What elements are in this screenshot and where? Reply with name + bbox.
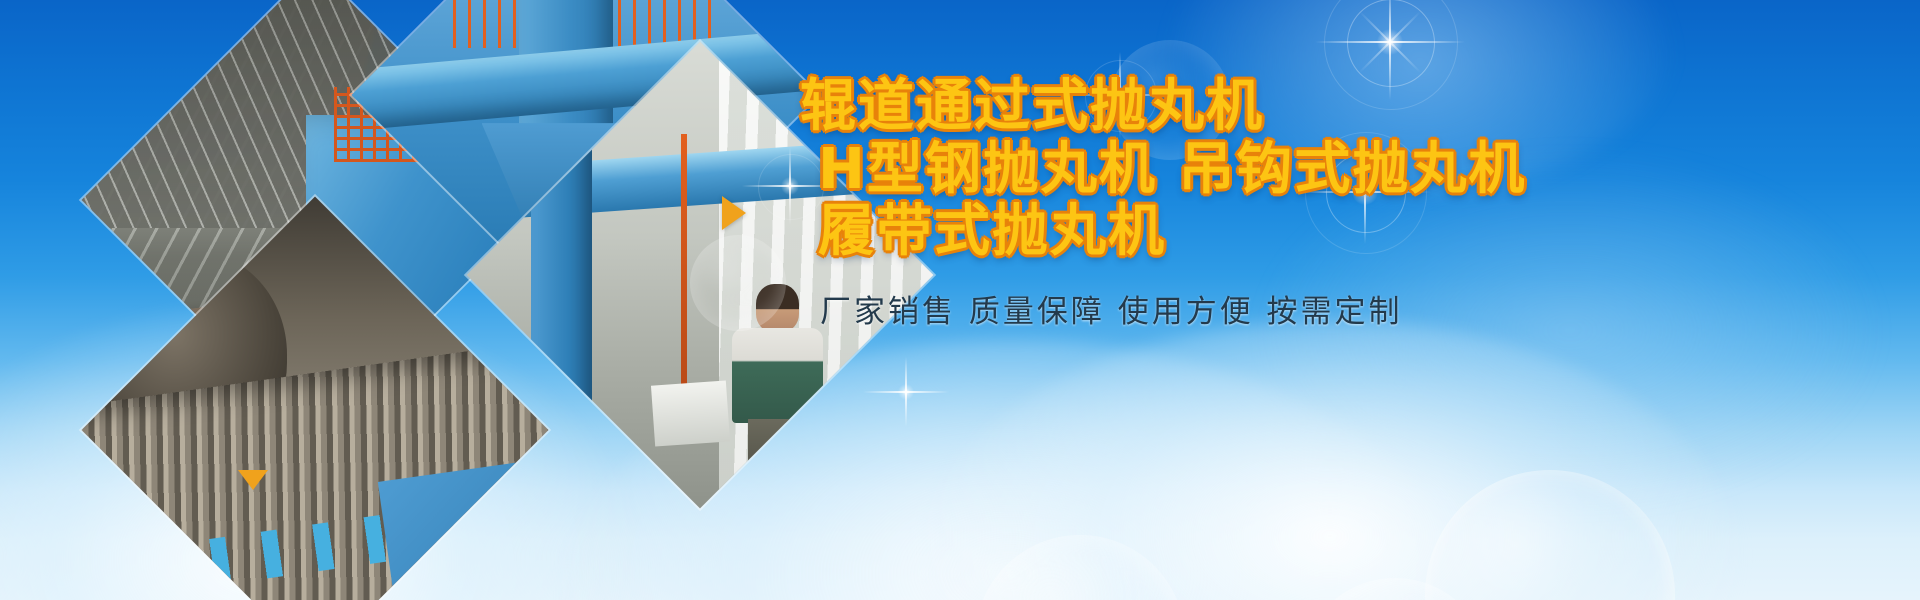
bubble-bottom-right-large [1425,470,1675,600]
bubble-bottom-right-small [1300,578,1490,600]
bubble-bottom-center [975,535,1185,600]
background-glow-bottom-right [920,320,1740,600]
worker-jacket [732,328,823,423]
orange-arrow-accent-right [722,196,746,230]
orange-arrow-accent-bottom [238,470,268,490]
worker-head [756,284,799,331]
banner-subtitle: 厂家销售 质量保障 使用方便 按需定制 [820,286,1880,331]
headline-line-1: 辊道通过式抛丸机 [800,76,1880,139]
diamond-photo-collage [120,0,820,600]
product-hero-banner: 辊道通过式抛丸机 H型钢抛丸机 吊钩式抛丸机 履带式抛丸机 厂家销售 质量保障 … [0,0,1920,600]
headline-line-3: 履带式抛丸机 [818,201,1880,264]
control-box [651,381,730,447]
worker-legs [748,419,807,486]
headline-line-2: H型钢抛丸机 吊钩式抛丸机 [818,139,1880,202]
banner-copy-block: 辊道通过式抛丸机 H型钢抛丸机 吊钩式抛丸机 履带式抛丸机 厂家销售 质量保障 … [800,76,1880,331]
